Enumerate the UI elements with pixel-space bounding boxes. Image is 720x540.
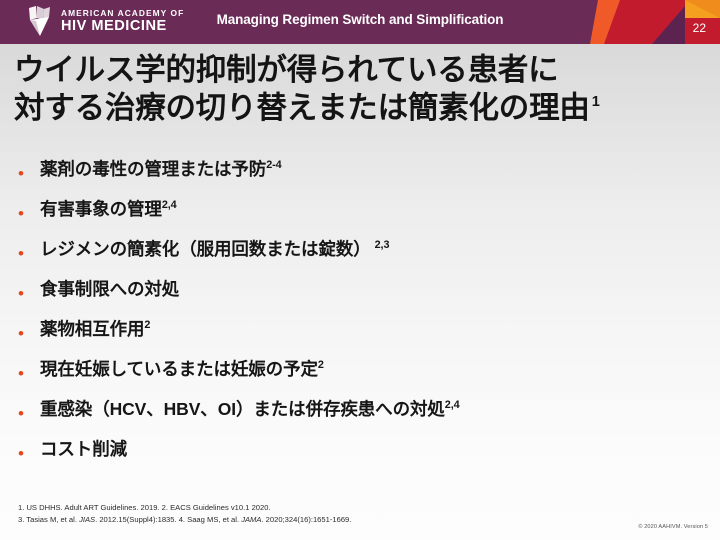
bullet-dot-icon: • [18,157,40,182]
list-item-text: レジメンの簡素化（服用回数または錠数）2,3 [40,237,708,260]
list-item-text: 重感染（HCV、HBV、OI）または併存疾患への対処2,4 [40,397,708,420]
footnote-journal-jias: JIAS [79,515,95,524]
list-item: • コスト削減 [18,437,708,477]
list-item: • レジメンの簡素化（服用回数または錠数）2,3 [18,237,708,277]
page-title: ウイルス学的抑制が得られている患者に 対する治療の切り替えまたは簡素化の理由1 [14,52,714,127]
list-item-label: 薬剤の毒性の管理または予防 [40,159,266,179]
list-item-superscript: 2 [318,359,324,371]
bullet-dot-icon: • [18,357,40,382]
list-item-label: 食事制限への対処 [40,279,179,299]
list-item-text: 薬物相互作用2 [40,317,708,340]
list-item-text: 有害事象の管理2,4 [40,197,708,220]
list-item-label: 有害事象の管理 [40,199,162,219]
list-item-text: 薬剤の毒性の管理または予防2-4 [40,157,708,180]
list-item-label: 重感染（HCV、HBV、OI）または併存疾患への対処 [40,399,445,419]
list-item-text: コスト削減 [40,437,708,460]
list-item-label: レジメンの簡素化（服用回数または錠数） [40,239,371,259]
slide: AMERICAN ACADEMY OF HIV MEDICINE Managin… [0,0,720,540]
footnote-line-1: 1. US DHHS. Adult ART Guidelines. 2019. … [18,502,578,515]
list-item-text: 現在妊娠しているまたは妊娠の予定2 [40,357,708,380]
bullet-dot-icon: • [18,397,40,422]
list-item: • 薬物相互作用2 [18,317,708,357]
footnote-journal-jama: JAMA [241,515,261,524]
bullet-list: • 薬剤の毒性の管理または予防2-4 • 有害事象の管理2,4 • レジメンの簡… [18,157,708,477]
bullet-dot-icon: • [18,317,40,342]
bullet-dot-icon: • [18,437,40,462]
footnote-line-2: 3. Tasias M, et al. JIAS. 2012.15(Suppl4… [18,514,578,527]
page-number: 22 [693,21,706,35]
list-item: • 現在妊娠しているまたは妊娠の予定2 [18,357,708,397]
list-item-superscript: 2-4 [266,159,281,171]
list-item-superscript: 2 [144,319,150,331]
list-item: • 重感染（HCV、HBV、OI）または併存疾患への対処2,4 [18,397,708,437]
footnote-text-c: . 2020;324(16):1651-1669. [261,515,351,524]
list-item: • 薬剤の毒性の管理または予防2-4 [18,157,708,197]
list-item-superscript: 2,4 [445,399,460,411]
page-title-line-2: 対する治療の切り替えまたは簡素化の理由 [14,91,590,125]
list-item: • 食事制限への対処 [18,277,708,317]
slide-header: AMERICAN ACADEMY OF HIV MEDICINE Managin… [0,0,720,44]
page-title-line-2-wrap: 対する治療の切り替えまたは簡素化の理由1 [14,90,714,128]
copyright-notice: © 2020 AAHIVM. Version 5 [638,524,708,530]
footnote-references: 1. US DHHS. Adult ART Guidelines. 2019. … [18,502,578,527]
list-item-superscript: 2,3 [375,239,390,251]
footnote-text-b: . 2012.15(Suppl4):1835. 4. Saag MS, et a… [95,515,241,524]
list-item-label: 薬物相互作用 [40,319,144,339]
page-title-superscript: 1 [592,94,600,110]
list-item: • 有害事象の管理2,4 [18,197,708,237]
list-item-label: コスト削減 [40,439,127,459]
list-item-text: 食事制限への対処 [40,277,708,300]
list-item-superscript: 2,4 [162,199,177,211]
bullet-dot-icon: • [18,237,40,262]
footnote-text-a: 3. Tasias M, et al. [18,515,79,524]
bullet-dot-icon: • [18,277,40,302]
bullet-dot-icon: • [18,197,40,222]
page-title-line-1: ウイルス学的抑制が得られている患者に [14,52,714,90]
list-item-label: 現在妊娠しているまたは妊娠の予定 [40,359,318,379]
